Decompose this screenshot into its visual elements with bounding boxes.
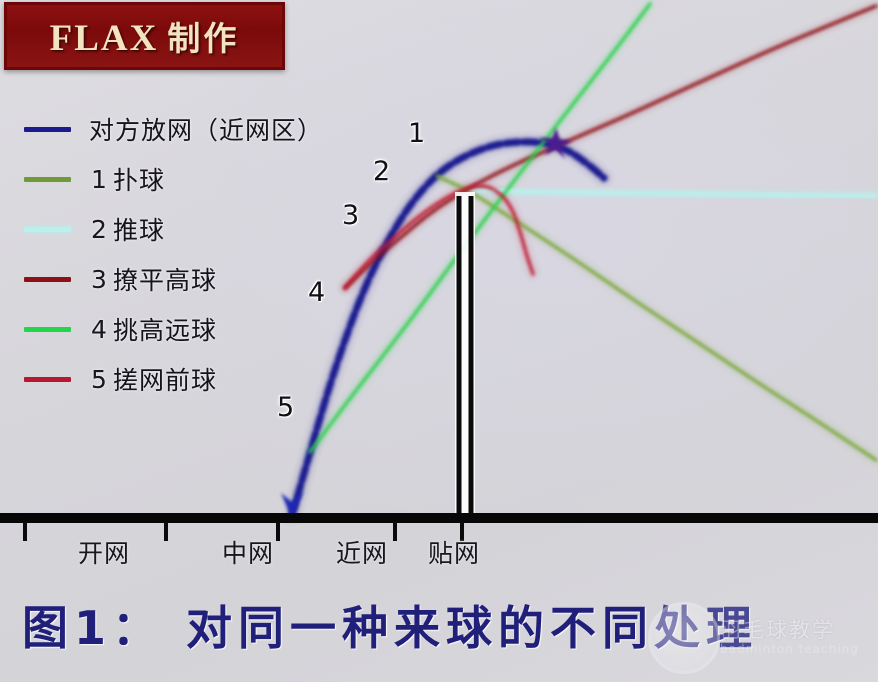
legend-item-cuo-wang-qian-qiu: 5搓网前球 <box>24 354 354 404</box>
legend-label-tui-qiu: 推球 <box>113 211 165 247</box>
banner-latin: FLAX <box>50 18 159 59</box>
callout-2: 2 <box>373 156 390 187</box>
axis-label-1: 中网 <box>222 534 274 570</box>
callout-4: 4 <box>308 277 325 308</box>
legend-item-opponent-net-drop: 对方放网（近网区） <box>24 104 354 154</box>
axis-label-2: 近网 <box>336 534 388 570</box>
figure-caption: 图1： 对同一种来球的不同处理 <box>22 592 758 658</box>
legend-item-pu-qiu: 1扑球 <box>24 154 354 204</box>
legend-swatch-pu-qiu <box>24 177 71 182</box>
legend-swatch-tui-qiu <box>24 227 71 232</box>
legend-index-tui-qiu: 2 <box>85 215 113 244</box>
legend-label-liao-ping-gao-qiu: 撩平高球 <box>113 261 217 297</box>
axis-label-3: 贴网 <box>428 534 480 570</box>
figure-root: FLAX制作 对方放网（近网区）1扑球2推球3撩平高球4挑高远球5搓网前球 12… <box>0 0 878 682</box>
legend-item-tiao-gao-yuan-qiu: 4挑高远球 <box>24 304 354 354</box>
caption-main: 图1： 对同一种来球的不同 <box>22 601 654 655</box>
legend-label-tiao-gao-yuan-qiu: 挑高远球 <box>113 311 217 347</box>
legend-swatch-tiao-gao-yuan-qiu <box>24 327 71 332</box>
legend-swatch-liao-ping-gao-qiu <box>24 277 71 282</box>
legend: 对方放网（近网区）1扑球2推球3撩平高球4挑高远球5搓网前球 <box>24 104 354 404</box>
legend-index-cuo-wang-qian-qiu: 5 <box>85 365 113 394</box>
legend-item-tui-qiu: 2推球 <box>24 204 354 254</box>
callout-5: 5 <box>277 392 294 423</box>
legend-index-pu-qiu: 1 <box>85 165 113 194</box>
legend-index-tiao-gao-yuan-qiu: 4 <box>85 315 113 344</box>
legend-label-opponent-net-drop: 对方放网（近网区） <box>89 111 323 147</box>
title-banner: FLAX制作 <box>4 2 285 70</box>
callout-3: 3 <box>342 200 359 231</box>
caption-obscured: 处理 <box>654 601 758 655</box>
legend-label-cuo-wang-qian-qiu: 搓网前球 <box>113 361 217 397</box>
legend-index-liao-ping-gao-qiu: 3 <box>85 265 113 294</box>
legend-label-pu-qiu: 扑球 <box>113 161 165 197</box>
legend-item-liao-ping-gao-qiu: 3撩平高球 <box>24 254 354 304</box>
legend-swatch-cuo-wang-qian-qiu <box>24 377 71 382</box>
legend-swatch-opponent-net-drop <box>24 127 71 132</box>
banner-cjk: 制作 <box>167 19 239 58</box>
banner-text: FLAX制作 <box>50 12 240 60</box>
axis-label-0: 开网 <box>78 534 130 570</box>
callout-1: 1 <box>408 118 425 149</box>
